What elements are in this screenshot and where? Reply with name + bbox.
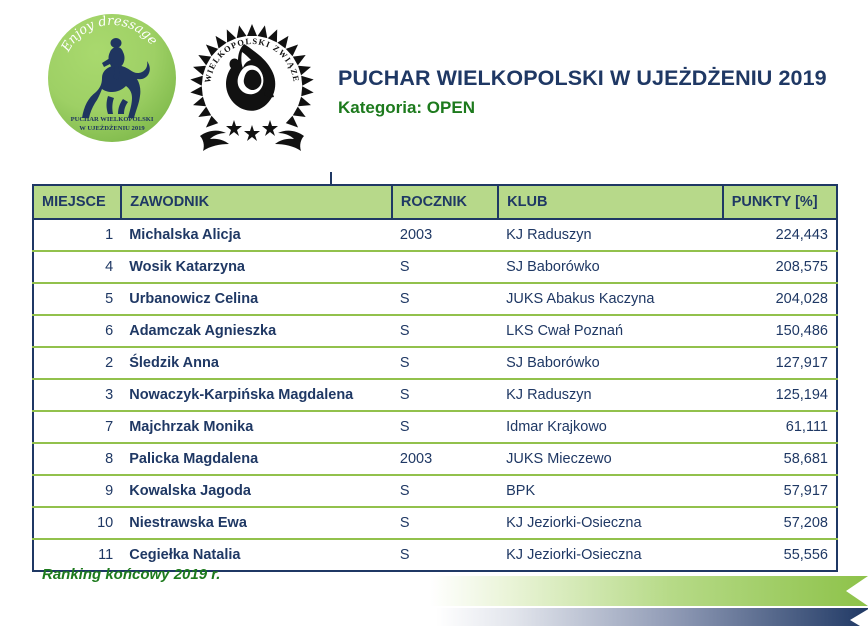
page-subtitle: Kategoria: OPEN (338, 95, 858, 121)
cell-year: S (392, 507, 498, 539)
logo-round-art: Enjoy dressage PUCHAR WIELKOPOLSKI W UJE… (48, 14, 176, 142)
cell-year: S (392, 475, 498, 507)
cell-year: S (392, 283, 498, 315)
cell-rider: Nowaczyk-Karpińska Magdalena (121, 379, 392, 411)
cell-rider: Śledzik Anna (121, 347, 392, 379)
cell-rider: Majchrzak Monika (121, 411, 392, 443)
cell-points: 125,194 (723, 379, 837, 411)
cell-rider: Kowalska Jagoda (121, 475, 392, 507)
emblem-art: WIELKOPOLSKI ZWIĄZEK JEŹDZIECKI (186, 8, 318, 156)
cell-points: 224,443 (723, 219, 837, 251)
cell-club: SJ Baborówko (498, 251, 723, 283)
cell-club: KJ Jeziorki-Osieczna (498, 507, 723, 539)
ranking-table: MIEJSCE ZAWODNIK ROCZNIK KLUB PUNKTY [%]… (32, 184, 838, 572)
cell-place: 7 (33, 411, 121, 443)
ribbon-art (430, 570, 868, 626)
cell-place: 9 (33, 475, 121, 507)
table-header-row: MIEJSCE ZAWODNIK ROCZNIK KLUB PUNKTY [%] (33, 185, 837, 219)
stars-group (226, 120, 278, 141)
cell-rider: Adamczak Agnieszka (121, 315, 392, 347)
page-header: Enjoy dressage PUCHAR WIELKOPOLSKI W UJE… (0, 0, 868, 168)
column-header-rocznik: ROCZNIK (392, 185, 498, 219)
table-row: 2 Śledzik Anna S SJ Baborówko 127,917 (33, 347, 837, 379)
ranking-table-body: 1 Michalska Alicja 2003 KJ Raduszyn 224,… (33, 219, 837, 571)
cell-points: 208,575 (723, 251, 837, 283)
enjoy-dressage-logo: Enjoy dressage PUCHAR WIELKOPOLSKI W UJE… (48, 14, 176, 142)
cell-year: 2003 (392, 219, 498, 251)
table-row: 8 Palicka Magdalena 2003 JUKS Mieczewo 5… (33, 443, 837, 475)
cell-club: JUKS Mieczewo (498, 443, 723, 475)
page-title: PUCHAR WIELKOPOLSKI W UJEŻDŻENIU 2019 (338, 64, 858, 92)
cell-year: 2003 (392, 443, 498, 475)
column-header-punkty: PUNKTY [%] (723, 185, 837, 219)
cell-points: 150,486 (723, 315, 837, 347)
cell-place: 10 (33, 507, 121, 539)
wielkopolski-zwiazek-jezdziecki-logo: WIELKOPOLSKI ZWIĄZEK JEŹDZIECKI (186, 8, 318, 156)
cell-points: 58,681 (723, 443, 837, 475)
footer-note: Ranking końcowy 2019 r. (42, 566, 220, 583)
table-row: 7 Majchrzak Monika S Idmar Krajkowo 61,1… (33, 411, 837, 443)
table-row: 5 Urbanowicz Celina S JUKS Abakus Kaczyn… (33, 283, 837, 315)
ribbon-band-green (430, 576, 868, 606)
column-header-zawodnik: ZAWODNIK (121, 185, 392, 219)
cell-place: 4 (33, 251, 121, 283)
cell-year: S (392, 379, 498, 411)
cell-place: 5 (33, 283, 121, 315)
cell-points: 61,111 (723, 411, 837, 443)
cell-place: 1 (33, 219, 121, 251)
cell-club: KJ Raduszyn (498, 219, 723, 251)
cell-place: 3 (33, 379, 121, 411)
cell-rider: Wosik Katarzyna (121, 251, 392, 283)
cell-place: 6 (33, 315, 121, 347)
logo-script-text: Enjoy dressage (58, 14, 160, 55)
cell-year: S (392, 251, 498, 283)
cell-club: LKS Cwał Poznań (498, 315, 723, 347)
cell-points: 55,556 (723, 539, 837, 571)
cell-year: S (392, 539, 498, 571)
horse-head-icon (226, 44, 275, 111)
cell-club: SJ Baborówko (498, 347, 723, 379)
horse-rider-silhouette (82, 38, 150, 118)
cell-rider: Palicka Magdalena (121, 443, 392, 475)
table-row: 1 Michalska Alicja 2003 KJ Raduszyn 224,… (33, 219, 837, 251)
cell-points: 127,917 (723, 347, 837, 379)
cell-points: 57,208 (723, 507, 837, 539)
ranking-table-container: MIEJSCE ZAWODNIK ROCZNIK KLUB PUNKTY [%]… (32, 184, 838, 572)
column-header-klub: KLUB (498, 185, 723, 219)
logo-caption-line1: PUCHAR WIELKOPOLSKI (71, 116, 154, 123)
cell-club: JUKS Abakus Kaczyna (498, 283, 723, 315)
cell-year: S (392, 411, 498, 443)
cell-place: 8 (33, 443, 121, 475)
cell-year: S (392, 347, 498, 379)
cell-club: KJ Raduszyn (498, 379, 723, 411)
title-block: PUCHAR WIELKOPOLSKI W UJEŻDŻENIU 2019 Ka… (338, 64, 858, 121)
cell-club: KJ Jeziorki-Osieczna (498, 539, 723, 571)
column-header-miejsce: MIEJSCE (33, 185, 121, 219)
table-row: 6 Adamczak Agnieszka S LKS Cwał Poznań 1… (33, 315, 837, 347)
cell-place: 2 (33, 347, 121, 379)
footer-ribbon (430, 570, 868, 626)
cell-points: 204,028 (723, 283, 837, 315)
cell-year: S (392, 315, 498, 347)
cell-rider: Urbanowicz Celina (121, 283, 392, 315)
table-row: 9 Kowalska Jagoda S BPK 57,917 (33, 475, 837, 507)
table-row: 4 Wosik Katarzyna S SJ Baborówko 208,575 (33, 251, 837, 283)
table-row: 3 Nowaczyk-Karpińska Magdalena S KJ Radu… (33, 379, 837, 411)
table-row: 10 Niestrawska Ewa S KJ Jeziorki-Osieczn… (33, 507, 837, 539)
logo-caption-line2: W UJEŻDŻENIU 2019 (79, 125, 145, 132)
cell-club: Idmar Krajkowo (498, 411, 723, 443)
column-tick-mark (330, 172, 332, 184)
cell-rider: Michalska Alicja (121, 219, 392, 251)
cell-club: BPK (498, 475, 723, 507)
ribbon-band-navy (436, 608, 868, 626)
cell-points: 57,917 (723, 475, 837, 507)
cell-rider: Niestrawska Ewa (121, 507, 392, 539)
